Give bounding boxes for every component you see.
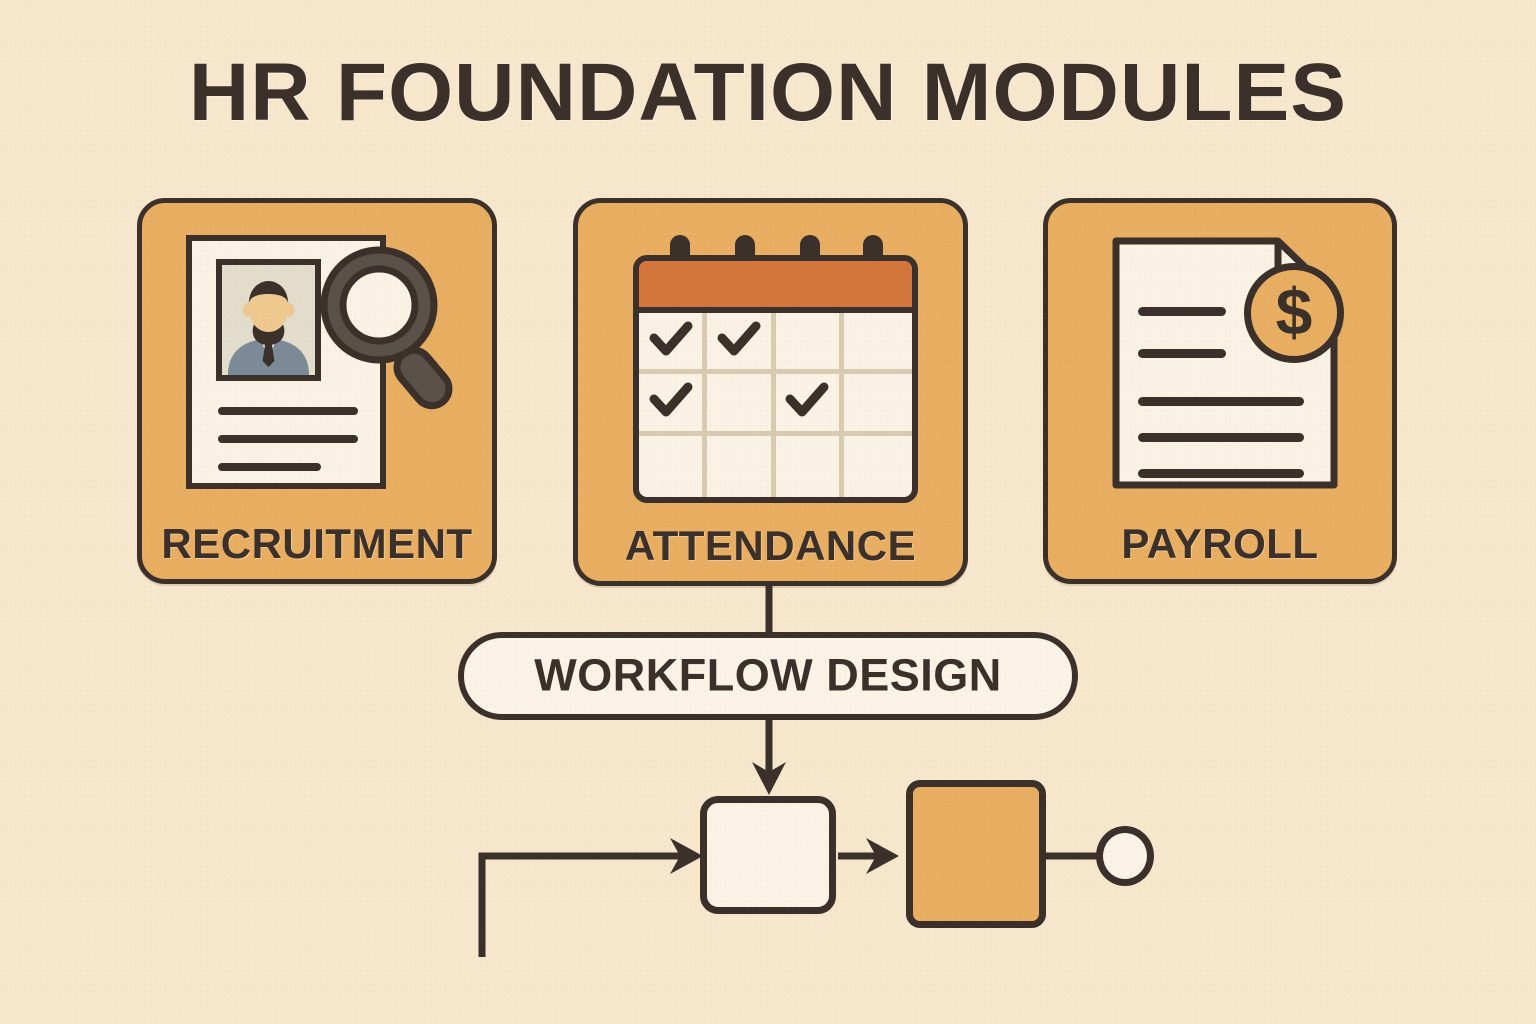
infographic-canvas: HR FOUNDATION MODULES (0, 0, 1536, 1024)
workflow-design-label: WORKFLOW DESIGN (464, 653, 1072, 698)
payslip-with-dollar-coin-icon: $ (1048, 221, 1392, 521)
resume-text-line (218, 435, 358, 443)
resume-text-line (218, 463, 321, 471)
flow-node-end[interactable] (1096, 826, 1154, 886)
calendar-grid (639, 313, 912, 497)
calendar-cell[interactable] (776, 436, 844, 497)
calendar-cell[interactable] (707, 374, 775, 435)
payslip-long-line (1138, 397, 1304, 406)
module-card-recruitment[interactable]: RECRUITMENT (137, 198, 497, 584)
calendar-cell-checked[interactable] (639, 313, 707, 374)
calendar-cell[interactable] (639, 436, 707, 497)
calendar-with-checkmarks-icon (578, 223, 963, 523)
calendar-cell[interactable] (844, 436, 912, 497)
dollar-coin-icon: $ (1244, 263, 1344, 363)
flow-node-process[interactable] (700, 796, 836, 914)
module-card-payroll[interactable]: $ PAYROLL (1043, 198, 1397, 584)
module-label-payroll: PAYROLL (1048, 523, 1392, 565)
calendar-cell[interactable] (776, 313, 844, 374)
resume-with-magnifier-icon (142, 221, 492, 521)
arrowhead-right-task (866, 838, 899, 874)
calendar-body (633, 255, 918, 503)
calendar-cell[interactable] (844, 313, 912, 374)
payslip-short-line (1138, 307, 1226, 316)
arrowhead-right-entry (670, 838, 703, 874)
flow-node-task[interactable] (906, 780, 1046, 928)
module-card-attendance[interactable]: ATTENDANCE (573, 198, 968, 586)
arrowhead-down (752, 762, 786, 795)
payslip-long-line (1138, 469, 1304, 478)
connector-entry-elbow (482, 856, 692, 957)
calendar-cell[interactable] (844, 374, 912, 435)
payslip-long-line (1138, 433, 1304, 442)
calendar-cell-checked[interactable] (707, 313, 775, 374)
calendar-cell-checked[interactable] (776, 374, 844, 435)
calendar-header-bar (639, 261, 912, 313)
page-title: HR FOUNDATION MODULES (0, 52, 1536, 134)
portrait-photo-icon (216, 259, 321, 381)
payslip-document-icon: $ (1110, 235, 1340, 491)
calendar-cell-checked[interactable] (639, 374, 707, 435)
dollar-sign-glyph: $ (1251, 279, 1337, 345)
workflow-design-pill[interactable]: WORKFLOW DESIGN (458, 632, 1078, 720)
calendar-cell[interactable] (707, 436, 775, 497)
payslip-short-line (1138, 349, 1226, 358)
magnifier-icon (314, 243, 460, 411)
module-label-recruitment: RECRUITMENT (142, 523, 492, 565)
module-label-attendance: ATTENDANCE (578, 525, 963, 567)
